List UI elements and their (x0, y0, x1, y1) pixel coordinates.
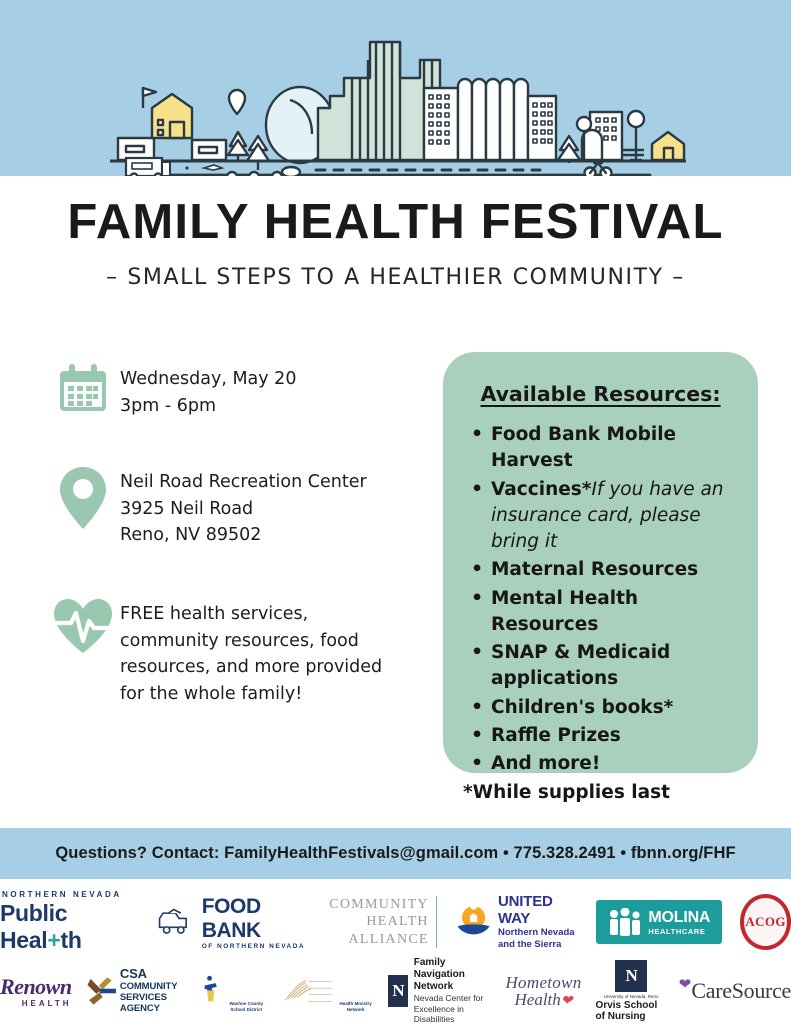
list-item: And more! (467, 751, 740, 777)
logo-text: OF NORTHERN NEVADA (202, 943, 305, 950)
family-figures-icon (608, 908, 642, 936)
page-subtitle: – SMALL STEPS TO A HEALTHIER COMMUNITY – (0, 265, 791, 290)
available-resources-box: Available Resources: Food Bank Mobile Ha… (443, 352, 758, 773)
logo-text: University of Nevada, Reno (604, 994, 659, 999)
contact-bar: Questions? Contact: FamilyHealthFestival… (0, 828, 791, 879)
logo-text: Family Navigation Network (414, 957, 492, 993)
detail-date-text: Wednesday, May 20 3pm - 6pm (120, 360, 296, 419)
logo-text: and the Sierra (498, 939, 561, 951)
resource-label: And more! (491, 753, 600, 774)
logo-text: NORTHERN NEVADA (2, 890, 122, 899)
resource-label: Food Bank Mobile Harvest (491, 424, 676, 471)
logo-text: CareSource (691, 978, 791, 1004)
logo-northern-nevada-public-health: NORTHERN NEVADA Public Heal+th (0, 890, 138, 954)
logo-text: Public Heal+th (0, 900, 138, 954)
logo-text: Orvis School of Nursing (596, 1000, 667, 1022)
logo-text: Health (515, 990, 561, 1009)
detail-line: Wednesday, May 20 (120, 366, 296, 393)
logo-renown-health: Renown HEALTH (0, 974, 72, 1008)
logo-health-ministry-network: Health Ministry Network (281, 970, 375, 1012)
event-details: Wednesday, May 20 3pm - 6pm Neil Road Re… (46, 360, 436, 735)
resource-label: Raffle Prizes (491, 725, 621, 746)
logo-text: MOLINA (648, 909, 710, 927)
logo-text: HEALTHCARE (648, 927, 705, 936)
skyline-banner (0, 0, 791, 176)
detail-services-text: FREE health services, community resource… (120, 595, 382, 707)
heart-icon: ❤ (679, 975, 692, 993)
resources-heading: Available Resources: (461, 382, 740, 406)
resources-list: Food Bank Mobile Harvest Vaccines*If you… (467, 422, 740, 777)
sponsor-logos-row-1: NORTHERN NEVADA Public Heal+th FOOD BANK… (0, 885, 791, 959)
logo-text: UNITED WAY (498, 893, 578, 927)
detail-line: community resources, food (120, 628, 382, 655)
contact-text[interactable]: Questions? Contact: FamilyHealthFestival… (55, 844, 735, 863)
united-way-rainbow-hand-icon (455, 901, 492, 943)
detail-location-text: Neil Road Recreation Center 3925 Neil Ro… (120, 463, 367, 549)
logo-molina-healthcare: MOLINA HEALTHCARE (596, 900, 722, 944)
logo-text: N (392, 981, 403, 1001)
detail-line: for the whole family! (120, 681, 382, 708)
logo-washoe-county-school-district: Washoe County School District (201, 970, 266, 1012)
list-item: Mental Health Resources (467, 586, 740, 639)
resource-label: Children's books* (491, 697, 673, 718)
page-title: FAMILY HEALTH FESTIVAL (0, 196, 791, 249)
resources-footnote: *While supplies last (463, 782, 740, 803)
detail-line: 3925 Neil Road (120, 496, 367, 523)
detail-line: Reno, NV 89502 (120, 522, 367, 549)
logo-text: HEALTH (22, 999, 72, 1008)
logo-text: Health Ministry Network (337, 1001, 374, 1012)
logo-text: ALLIANCE (348, 931, 428, 949)
logo-hometown-health: Hometown Health❤ (505, 973, 581, 1010)
logo-text: Washoe County School District (226, 1001, 267, 1012)
logo-text: Renown (0, 974, 72, 1000)
csa-pinwheel-icon (86, 971, 116, 1011)
logo-text: Northern Nevada (498, 927, 575, 939)
logo-acog: ACOG (740, 894, 791, 950)
detail-line: FREE health services, (120, 601, 382, 628)
logo-community-health-alliance: COMMUNITY HEALTH ALLIANCE (329, 896, 437, 949)
logo-family-navigation-network: N Family Navigation Network Nevada Cente… (388, 957, 491, 1024)
logo-text-row: Health❤ (515, 990, 573, 1010)
logo-text: FOOD BANK (202, 895, 312, 943)
list-item: Maternal Resources (467, 557, 740, 583)
heart-icon: ❤ (561, 994, 573, 1009)
list-item: SNAP & Medicaid applications (467, 640, 740, 693)
logo-caresource: ❤ CareSource (681, 978, 791, 1004)
logo-text: SERVICES AGENCY (120, 993, 187, 1015)
logo-text: Excellence in Disabilities (414, 1004, 492, 1024)
logo-orvis-school-of-nursing: N University of Nevada, Reno Orvis Schoo… (596, 960, 667, 1022)
detail-line: resources, and more provided (120, 654, 382, 681)
list-item: Food Bank Mobile Harvest (467, 422, 740, 475)
logo-text: HEALTH (366, 913, 429, 931)
detail-line: 3pm - 6pm (120, 393, 296, 420)
resource-label: Maternal Resources (491, 559, 698, 580)
detail-services: FREE health services, community resource… (46, 595, 436, 707)
logo-text: ACOG (745, 914, 786, 930)
location-pin-icon (46, 463, 120, 531)
flyer-page: FAMILY HEALTH FESTIVAL – SMALL STEPS TO … (0, 0, 791, 1024)
city-skyline-illustration (0, 0, 791, 176)
logo-text: N (626, 966, 637, 986)
logo-text: COMMUNITY (329, 896, 429, 914)
nevada-n-badge-icon: N (615, 960, 647, 992)
detail-line: Neil Road Recreation Center (120, 469, 367, 496)
resource-label: Mental Health Resources (491, 588, 638, 635)
title-block: FAMILY HEALTH FESTIVAL – SMALL STEPS TO … (0, 196, 791, 290)
resource-label: SNAP & Medicaid applications (491, 642, 670, 689)
calendar-icon (46, 360, 120, 418)
health-ministry-wheat-icon (281, 970, 333, 1012)
list-item: Vaccines*If you have an insurance card, … (467, 477, 740, 556)
sponsor-logos-row-2: Renown HEALTH CSA COMMUNITY SERVICES AGE… (0, 959, 791, 1023)
logo-community-services-agency: CSA COMMUNITY SERVICES AGENCY (86, 967, 188, 1015)
list-item: Raffle Prizes (467, 723, 740, 749)
washoe-figure-icon (201, 970, 222, 1012)
logo-text: Nevada Center for (414, 993, 483, 1003)
logo-text-part: th (61, 927, 82, 953)
list-item: Children's books* (467, 695, 740, 721)
logo-text: CSA (120, 967, 147, 982)
detail-date-time: Wednesday, May 20 3pm - 6pm (46, 360, 436, 419)
resource-label: Vaccines* (491, 479, 591, 500)
heart-pulse-icon (46, 595, 120, 655)
nevada-n-badge-icon: N (388, 975, 407, 1007)
delivery-truck-icon (156, 906, 197, 938)
medical-cross-icon: + (47, 927, 60, 953)
detail-location: Neil Road Recreation Center 3925 Neil Ro… (46, 463, 436, 549)
logo-food-bank-northern-nevada: FOOD BANK OF NORTHERN NEVADA (156, 895, 311, 950)
logo-united-way: UNITED WAY Northern Nevada and the Sierr… (455, 893, 579, 951)
